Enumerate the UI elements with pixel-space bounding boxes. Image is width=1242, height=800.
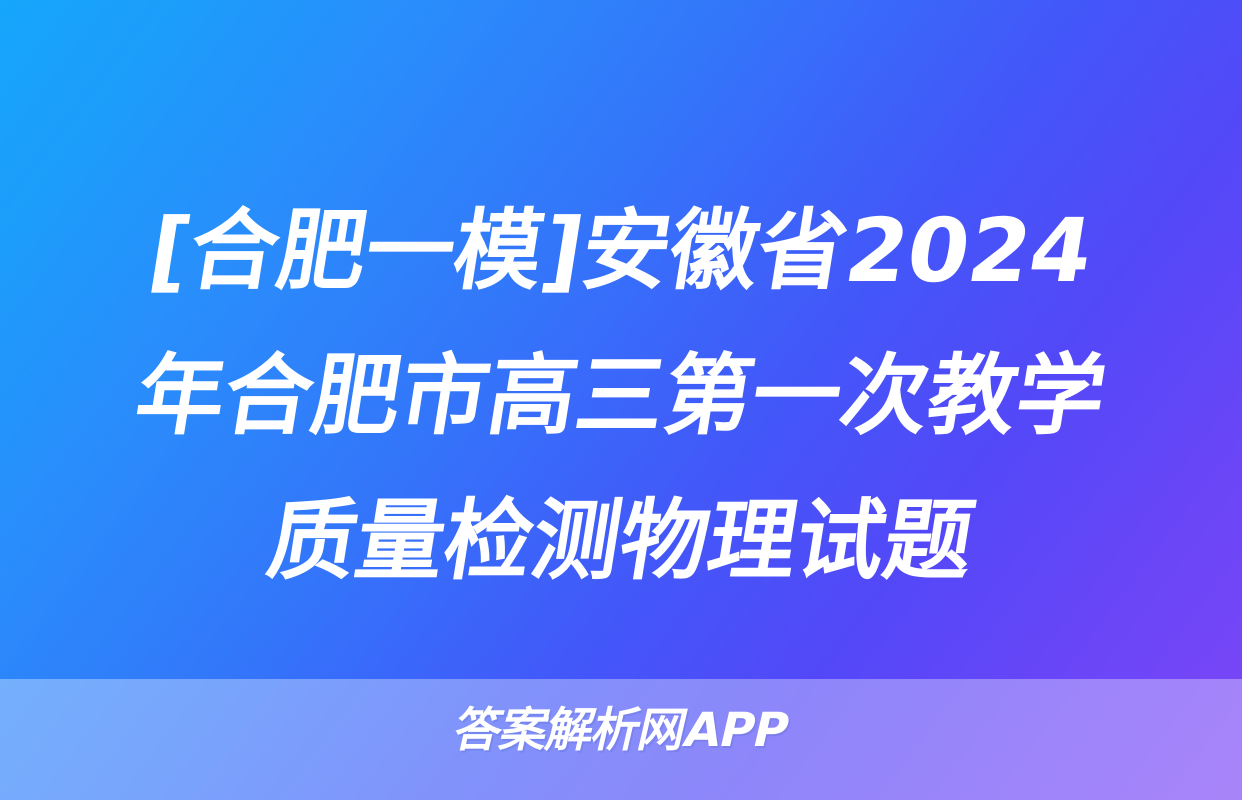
watermark: 答案解析网APP <box>0 702 1242 760</box>
title-line-2: 年合肥市高三第一次教学 <box>33 323 1210 468</box>
watermark-label: 答案解析网APP <box>448 702 794 760</box>
title-line-1: [合肥一模]安徽省2024 <box>33 178 1210 323</box>
title-line-3: 质量检测物理试题 <box>33 468 1210 613</box>
page-title: [合肥一模]安徽省2024 年合肥市高三第一次教学 质量检测物理试题 <box>0 178 1242 613</box>
poster-banner: [合肥一模]安徽省2024 年合肥市高三第一次教学 质量检测物理试题 答案解析网… <box>0 0 1242 800</box>
